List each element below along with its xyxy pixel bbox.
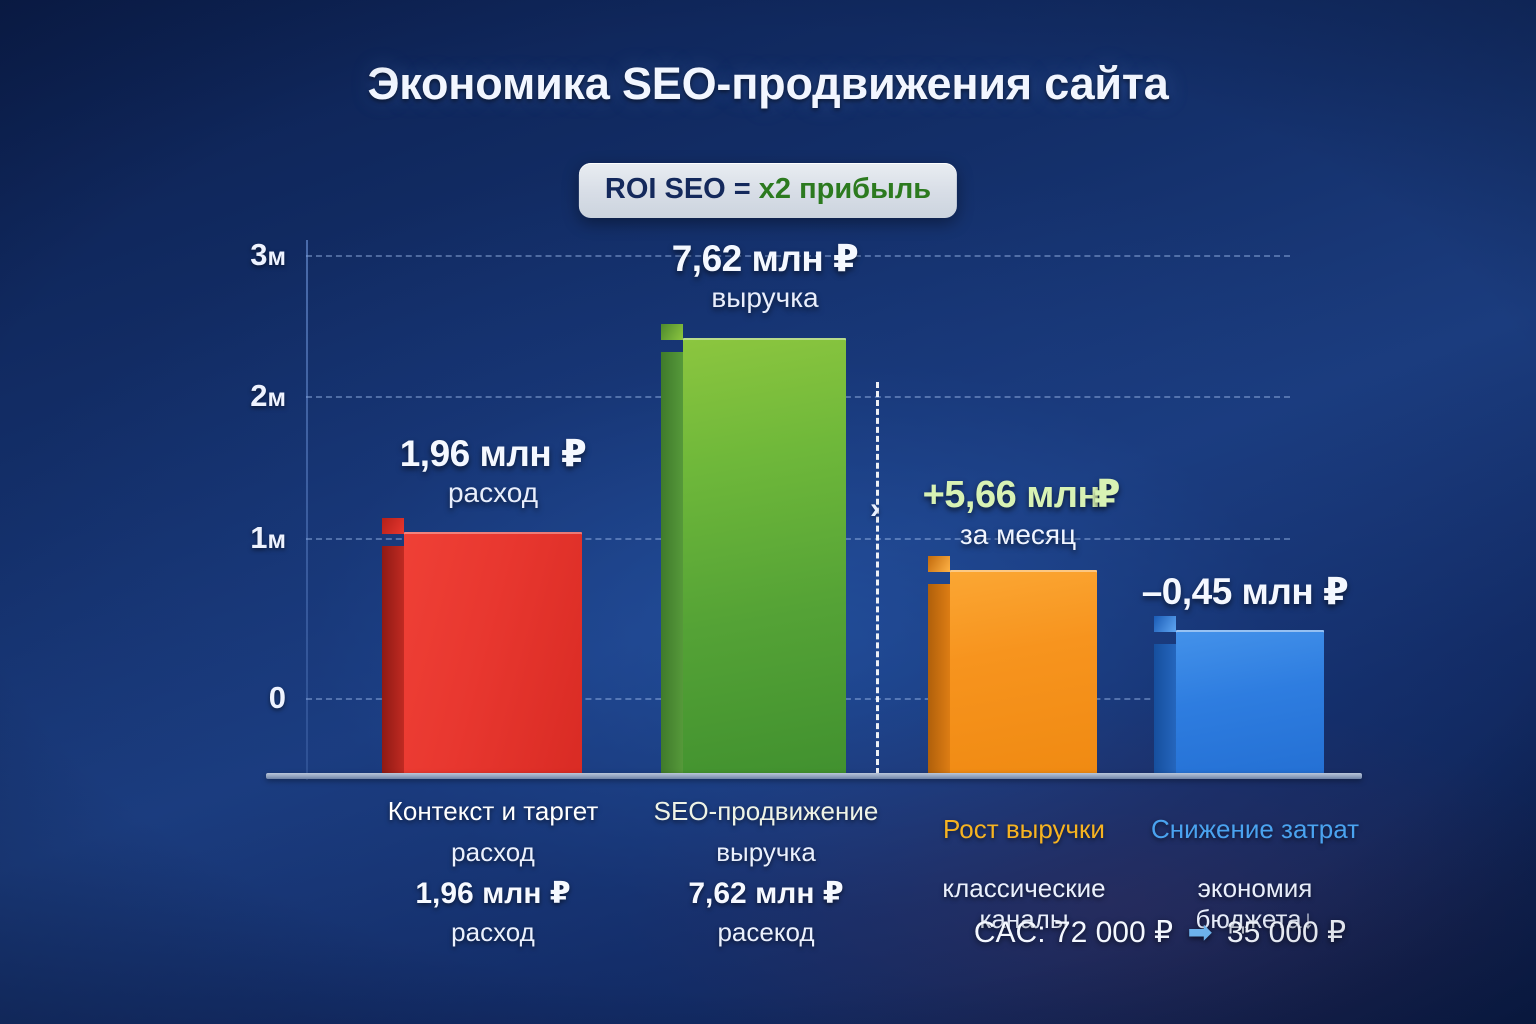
- category-snizhenie-zatrat-title: Снижение затрат: [1125, 814, 1385, 845]
- delta-unit-a: млн: [1026, 474, 1100, 516]
- category-kontekst-target-title: Контекст и таргет: [343, 796, 643, 827]
- bar-seo-prodvizhenie-face: [683, 338, 846, 775]
- category-kontekst-target: Контекст и таргет расход 1,96 млн ₽ расх…: [343, 796, 643, 948]
- bar-kontekst-target-face: [404, 532, 582, 775]
- delta-unit-b: ₽: [1094, 472, 1113, 517]
- value-label-seo-sub: выручка: [620, 282, 910, 314]
- delta-annotation: +5,66 млн₽ за месяц: [893, 472, 1143, 551]
- value-label-kontekst-target-sub: расход: [348, 477, 638, 509]
- bar-kontekst-target-side: [382, 546, 404, 775]
- chart-baseline: [266, 773, 1362, 779]
- bar-kontekst-target-top: [382, 518, 404, 534]
- category-kontekst-target-line3: 1,96 млн ₽: [343, 876, 643, 911]
- arrow-right-icon: ➡: [1181, 916, 1218, 949]
- cac-from-value: 72 000 ₽: [1054, 916, 1173, 949]
- bar-rost-vyruchki-top: [928, 556, 950, 572]
- value-label-snizhenie-zatrat-amount: –0,45 млн ₽: [1100, 570, 1390, 613]
- category-rost-vyruchki-title: Рост выручки: [894, 814, 1154, 845]
- value-label-snizhenie-zatrat: –0,45 млн ₽: [1100, 570, 1390, 613]
- value-label-seo-amount: 7,62 млн ₽: [620, 237, 910, 280]
- cac-footnote: CAC: 72 000 ₽ ➡ 35 000 ₽: [930, 915, 1390, 950]
- category-seo-prodvizhenie-line3: 7,62 млн ₽: [616, 876, 916, 911]
- bar-rost-vyruchki-face: [950, 570, 1097, 775]
- bar-seo-prodvizhenie[interactable]: [683, 338, 846, 775]
- bar-rost-vyruchki[interactable]: [950, 570, 1097, 775]
- category-labels: Контекст и таргет расход 1,96 млн ₽ расх…: [0, 788, 1536, 1024]
- bar-snizhenie-zatrat-face: [1176, 630, 1324, 775]
- category-kontekst-target-line2: расход: [343, 837, 643, 868]
- bar-snizhenie-zatrat-side: [1154, 644, 1176, 775]
- bar-seo-prodvizhenie-side: [661, 352, 683, 775]
- category-seo-prodvizhenie-line2: выручка: [616, 837, 916, 868]
- bar-kontekst-target[interactable]: [404, 532, 582, 775]
- chevron-right-icon: ›: [870, 492, 880, 526]
- cac-to-value: 35 000 ₽: [1227, 916, 1346, 949]
- delta-sub: за месяц: [893, 519, 1143, 551]
- category-seo-prodvizhenie-title: SEO-продвижение: [616, 796, 916, 827]
- bar-snizhenie-zatrat-top: [1154, 616, 1176, 632]
- divider-dashed-line: [876, 382, 879, 774]
- category-seo-prodvizhenie-line4: расекод: [616, 917, 916, 948]
- delta-value: +5,66: [923, 474, 1017, 516]
- bar-seo-prodvizhenie-top: [661, 324, 683, 340]
- value-label-kontekst-target-amount: 1,96 млн ₽: [348, 432, 638, 475]
- category-kontekst-target-line4: расход: [343, 917, 643, 948]
- category-seo-prodvizhenie: SEO-продвижение выручка 7,62 млн ₽ расек…: [616, 796, 916, 948]
- cac-label: CAC:: [974, 916, 1046, 949]
- bar-snizhenie-zatrat[interactable]: [1176, 630, 1324, 775]
- value-label-seo: 7,62 млн ₽ выручка: [620, 237, 910, 314]
- bar-series: [0, 0, 1536, 775]
- value-label-kontekst-target: 1,96 млн ₽ расход: [348, 432, 638, 509]
- delta-amount: +5,66 млн₽: [893, 472, 1143, 517]
- bar-rost-vyruchki-side: [928, 584, 950, 775]
- infographic-canvas: Экономика SEO-продвижения сайта ROI SEO …: [0, 0, 1536, 1024]
